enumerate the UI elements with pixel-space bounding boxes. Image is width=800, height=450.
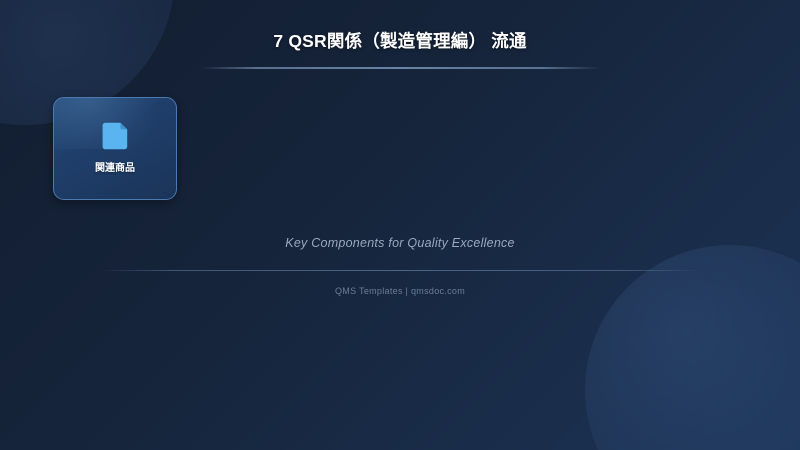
document-icon bbox=[102, 122, 128, 150]
title-block: 7 QSR関係（製造管理編） 流通 bbox=[0, 30, 800, 69]
slide-subtitle: Key Components for Quality Excellence bbox=[0, 236, 800, 250]
decorative-circle-bottom-right bbox=[585, 245, 800, 450]
component-card-list: 関連商品 bbox=[53, 97, 177, 200]
page-title: 7 QSR関係（製造管理編） 流通 bbox=[0, 30, 800, 53]
footer-attribution: QMS Templates | qmsdoc.com bbox=[0, 286, 800, 296]
component-card-related-products[interactable]: 関連商品 bbox=[53, 97, 177, 200]
title-divider bbox=[200, 67, 600, 69]
component-card-label: 関連商品 bbox=[89, 163, 141, 176]
slide-canvas: 7 QSR関係（製造管理編） 流通 関連商品 Key Components fo… bbox=[0, 0, 800, 450]
footer-divider bbox=[100, 270, 700, 271]
